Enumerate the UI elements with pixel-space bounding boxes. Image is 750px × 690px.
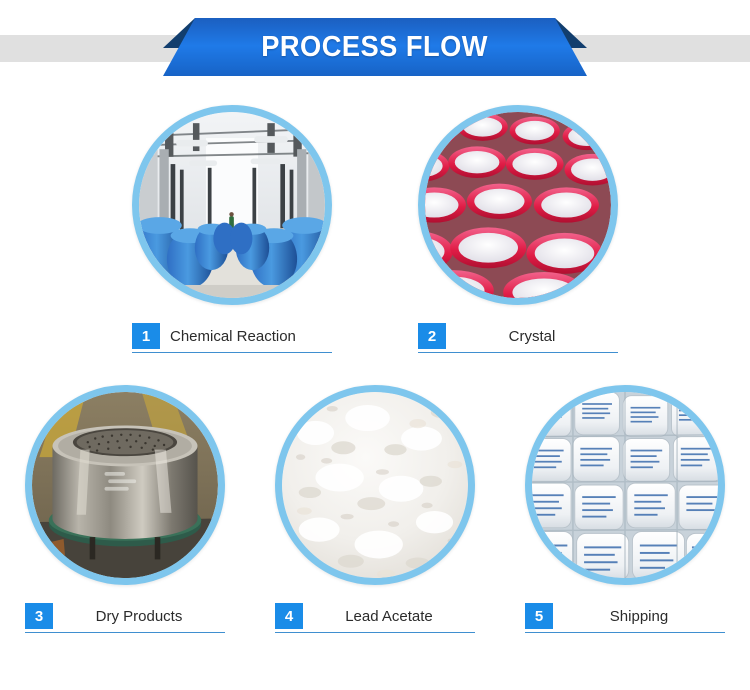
- process-step-1: 1 Chemical Reaction: [113, 105, 351, 380]
- step-4-label: Lead Acetate: [303, 603, 475, 632]
- process-step-4: 4 Lead Acetate: [256, 385, 494, 670]
- chemical-reactor-hall-illustration: [139, 112, 325, 298]
- process-row-2: 3 Dry Products: [0, 385, 750, 670]
- lead-acetate-powder-illustration: [282, 392, 468, 578]
- process-step-3: 3 Dry Products: [6, 385, 244, 670]
- step-2-caption: 2 Crystal: [418, 323, 618, 353]
- chemical-reactor-hall-photo: [132, 105, 332, 305]
- step-3-caption: 3 Dry Products: [25, 603, 225, 633]
- crystal-buckets-photo: [418, 105, 618, 305]
- step-3-label: Dry Products: [53, 603, 225, 632]
- step-2-label: Crystal: [446, 323, 618, 352]
- lead-acetate-powder-photo: [275, 385, 475, 585]
- packed-bags-photo: [525, 385, 725, 585]
- process-step-5: 5 Shipping: [506, 385, 744, 670]
- packed-bags-illustration: [532, 392, 718, 578]
- step-1-caption: 1 Chemical Reaction: [132, 323, 332, 353]
- step-3-badge: 3: [25, 603, 53, 629]
- step-5-caption: 5 Shipping: [525, 603, 725, 633]
- header: PROCESS FLOW: [0, 0, 750, 92]
- step-2-badge: 2: [418, 323, 446, 349]
- process-step-2: 2 Crystal: [399, 105, 637, 380]
- step-4-caption: 4 Lead Acetate: [275, 603, 475, 633]
- centrifuge-dryer-photo: [25, 385, 225, 585]
- step-1-label: Chemical Reaction: [160, 323, 332, 352]
- ribbon-banner: PROCESS FLOW: [163, 18, 587, 76]
- step-5-label: Shipping: [553, 603, 725, 632]
- step-4-badge: 4: [275, 603, 303, 629]
- centrifuge-dryer-illustration: [32, 392, 218, 578]
- process-flow-page: PROCESS FLOW: [0, 0, 750, 690]
- page-title: PROCESS FLOW: [262, 31, 489, 64]
- process-row-1: 1 Chemical Reaction: [0, 105, 750, 380]
- crystal-buckets-illustration: [425, 112, 611, 298]
- step-5-badge: 5: [525, 603, 553, 629]
- step-1-badge: 1: [132, 323, 160, 349]
